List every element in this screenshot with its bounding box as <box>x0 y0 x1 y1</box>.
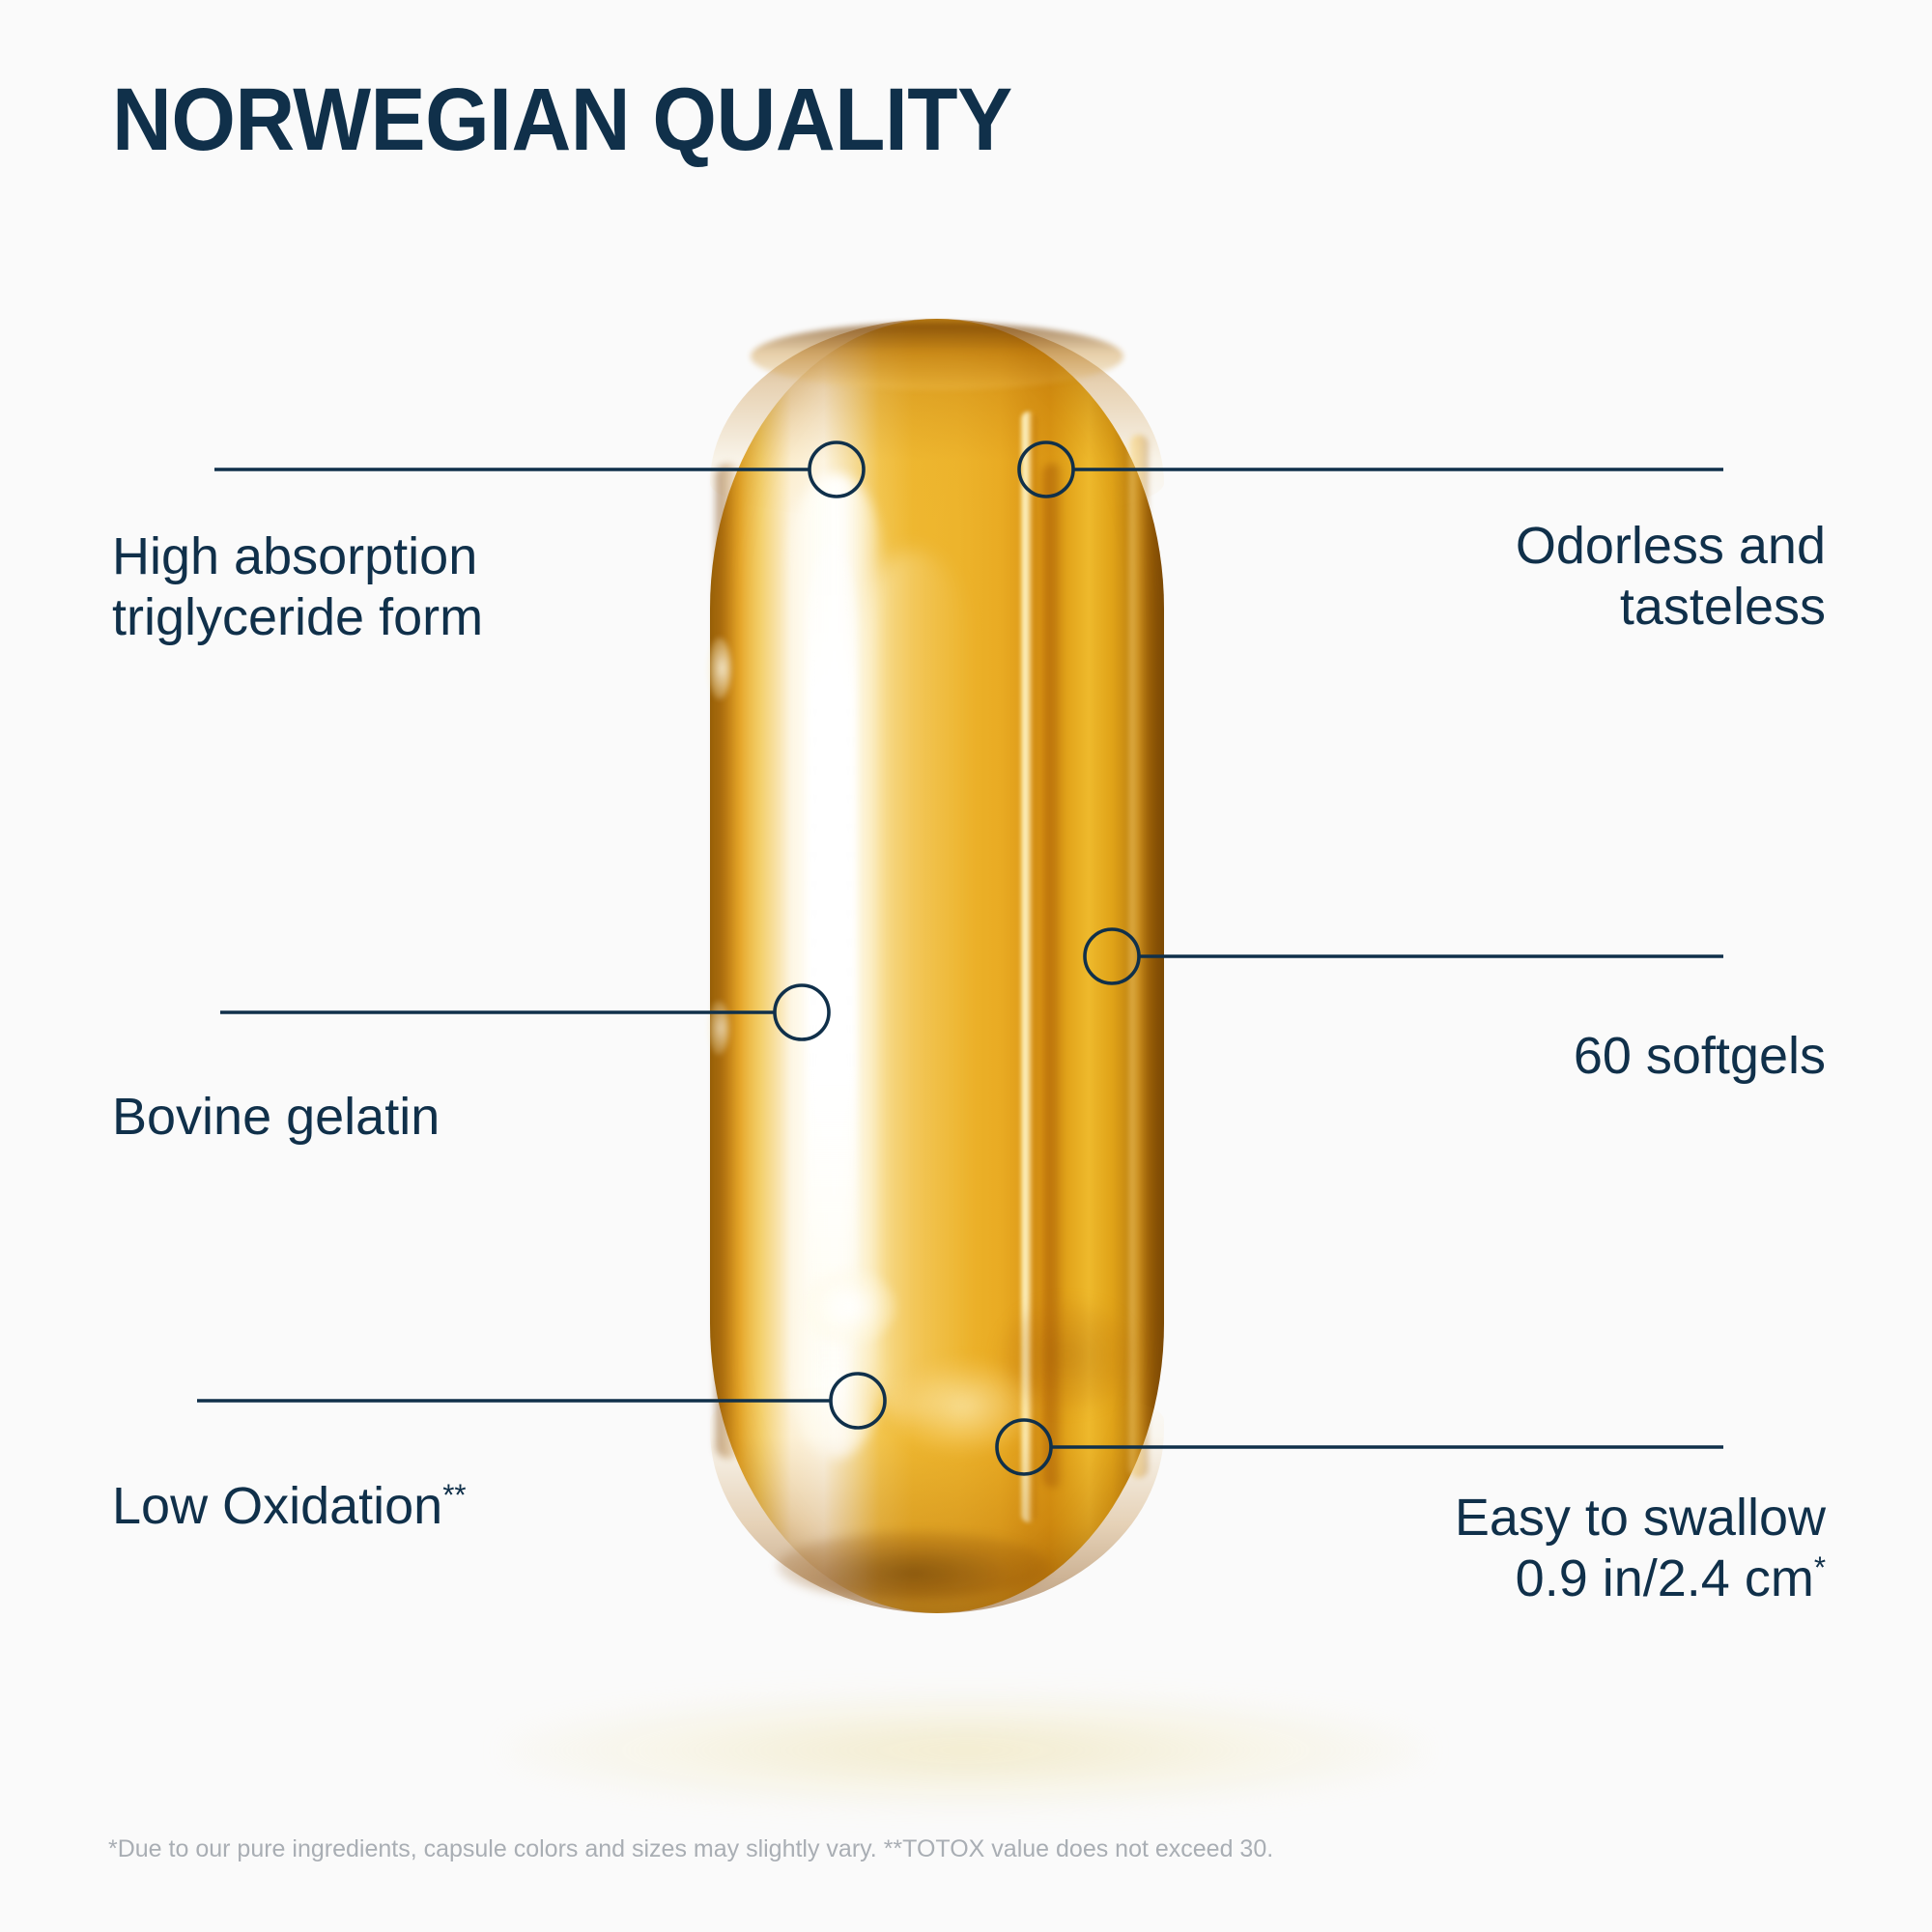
softgel-capsule-image <box>710 319 1164 1613</box>
capsule-right-rim <box>1129 435 1149 1478</box>
capsule-edge-glint-upper <box>708 638 731 699</box>
callout-label-high-absorption: High absorption triglyceride form <box>112 526 483 647</box>
callout-label-low-oxidation: Low Oxidation** <box>112 1476 467 1537</box>
capsule-left-rim <box>716 464 741 1459</box>
footnote-text: *Due to our pure ingredients, capsule co… <box>108 1833 1273 1865</box>
callout-label-odorless-tasteless: Odorless and tasteless <box>1516 516 1826 637</box>
footnote-marker-asterisk: * <box>1814 1550 1826 1584</box>
capsule-highlight-core <box>807 541 857 1391</box>
callout-label-low-oxidation-text: Low Oxidation <box>112 1477 442 1535</box>
callout-label-bovine-gelatin: Bovine gelatin <box>112 1087 440 1148</box>
callout-label-easy-to-swallow-text: Easy to swallow 0.9 in/2.4 cm <box>1455 1489 1826 1607</box>
capsule-ground-shadow <box>502 1692 1430 1808</box>
capsule-edge-glint-lower <box>708 1001 729 1055</box>
footnote-marker-double-asterisk: ** <box>442 1478 466 1512</box>
callout-label-sixty-softgels: 60 softgels <box>1574 1026 1826 1087</box>
capsule-bottom-core-shadow <box>778 1532 1048 1600</box>
infographic-canvas: NORWEGIAN QUALITY <box>0 0 1932 1932</box>
capsule-caustic-highlight <box>803 1269 895 1345</box>
capsule-top-rim <box>751 323 1123 390</box>
page-title: NORWEGIAN QUALITY <box>112 75 1012 164</box>
callout-label-easy-to-swallow: Easy to swallow 0.9 in/2.4 cm* <box>1455 1488 1826 1608</box>
